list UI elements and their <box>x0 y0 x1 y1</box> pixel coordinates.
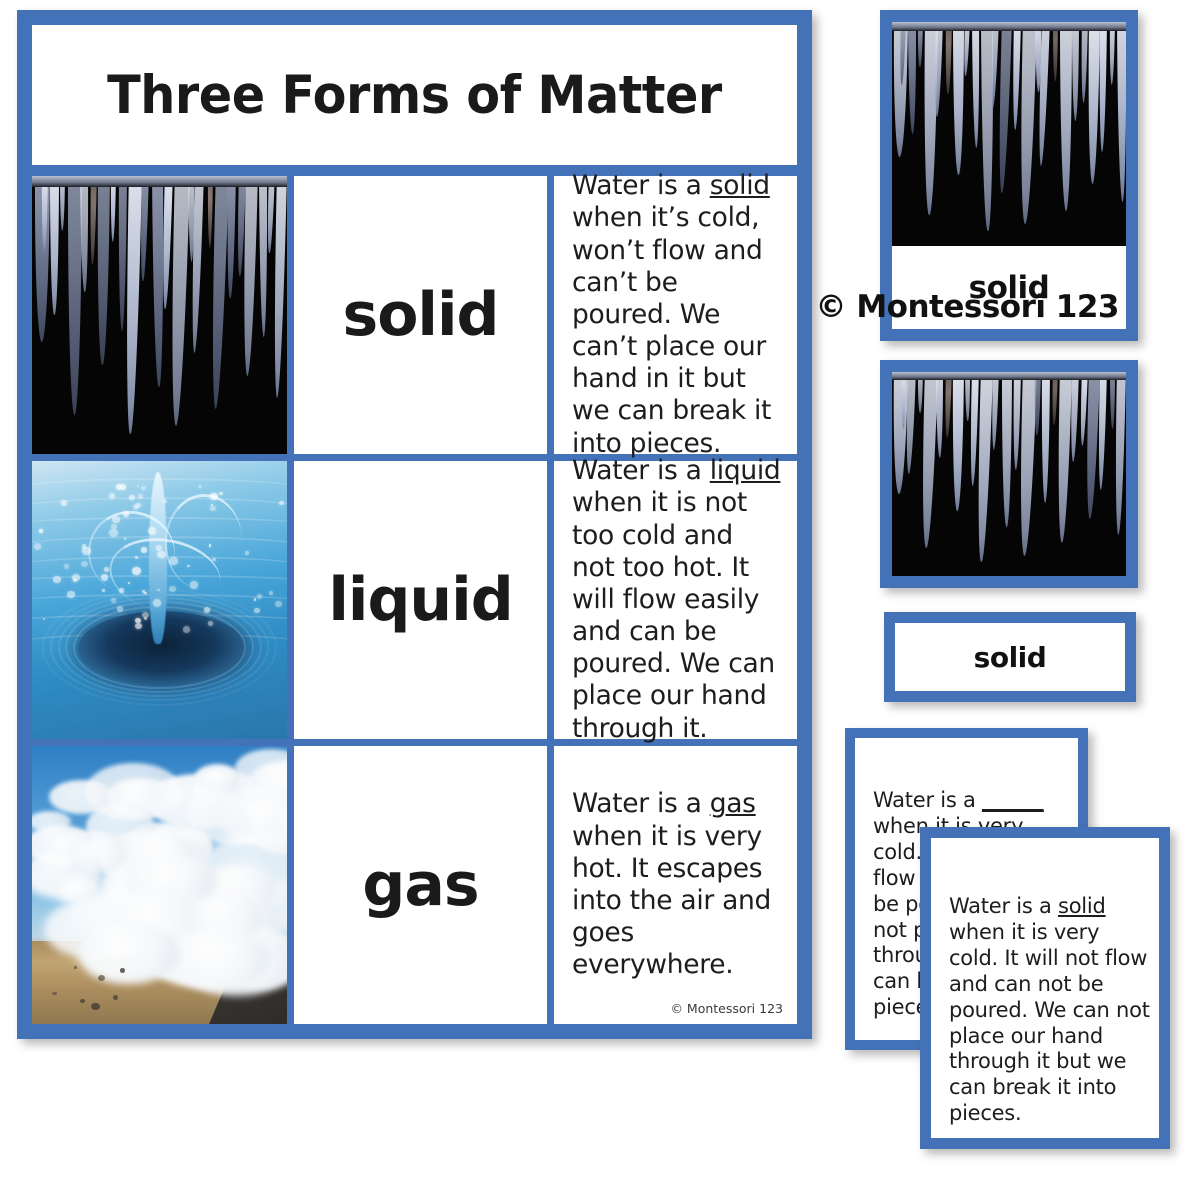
desc-prefix: Water is a <box>572 788 710 819</box>
word-cell-liquid: liquid <box>294 461 547 739</box>
desc-suffix: when it’s cold, won’t flow and can’t be … <box>572 202 771 458</box>
description-cell-solid: Water is a solid when it’s cold, won’t f… <box>554 176 797 454</box>
icicles-photo <box>892 22 1126 246</box>
description-text: Water is a solid when it’s cold, won’t f… <box>572 170 781 460</box>
card-label: solid <box>974 641 1047 674</box>
desc-suffix: when it is very cold. It will not flow a… <box>949 920 1150 1125</box>
chart-rows: solid Water is a solid when it’s cold, w… <box>32 176 797 1024</box>
description-cell-gas: Water is a gas when it is very hot. It e… <box>554 746 797 1024</box>
icicles-photo <box>892 372 1126 576</box>
desc-prefix: Water is a <box>873 788 982 812</box>
word-cell-gas: gas <box>294 746 547 1024</box>
three-forms-of-matter-chart: Three Forms of Matter solid Water is a s… <box>17 10 812 1039</box>
word-label: solid <box>342 280 498 350</box>
card-label-area: solid <box>895 623 1125 691</box>
desc-keyword: solid <box>1058 894 1106 918</box>
table-row: solid Water is a solid when it’s cold, w… <box>32 176 797 454</box>
description-cell-liquid: Water is a liquid when it is not too col… <box>554 461 797 739</box>
word-only-card[interactable]: solid <box>884 612 1136 702</box>
picture-only-card[interactable] <box>880 360 1138 588</box>
chart-title-cell: Three Forms of Matter <box>32 25 797 165</box>
full-description-card[interactable]: Water is a solid when it is very cold. I… <box>920 827 1170 1149</box>
card-label-area: solid © Montessori 123 <box>892 246 1126 329</box>
desc-keyword: gas <box>710 788 756 819</box>
description-text: Water is a solid when it is very cold. I… <box>949 868 1151 1127</box>
table-row: gas Water is a gas when it is very hot. … <box>32 746 797 1024</box>
description-text: Water is a liquid when it is not too col… <box>572 455 781 745</box>
description-text: Water is a gas when it is very hot. It e… <box>572 788 781 981</box>
desc-prefix: Water is a <box>572 455 710 486</box>
fill-in-blank[interactable]: ______ <box>982 788 1044 812</box>
water-splash-photo <box>32 461 287 739</box>
desc-prefix: Water is a <box>949 894 1058 918</box>
page-title: Three Forms of Matter <box>107 65 722 126</box>
word-label: gas <box>362 850 478 920</box>
desc-prefix: Water is a <box>572 170 710 201</box>
copyright-notice: © Montessori 123 <box>670 1001 783 1016</box>
table-row: liquid Water is a liquid when it is not … <box>32 461 797 739</box>
desc-suffix: when it is not too cold and not too hot.… <box>572 487 775 743</box>
picture-word-card[interactable]: solid © Montessori 123 <box>880 10 1138 341</box>
icicles-photo <box>32 176 287 454</box>
full-description-body: Water is a solid when it is very cold. I… <box>931 838 1159 1138</box>
desc-suffix: when it is very hot. It escapes into the… <box>572 821 771 981</box>
desc-keyword: solid <box>710 170 770 201</box>
steam-photo <box>32 746 287 1024</box>
word-label: liquid <box>328 565 512 635</box>
word-cell-solid: solid <box>294 176 547 454</box>
copyright-notice: © Montessori 123 <box>816 289 1119 325</box>
desc-keyword: liquid <box>710 455 781 486</box>
